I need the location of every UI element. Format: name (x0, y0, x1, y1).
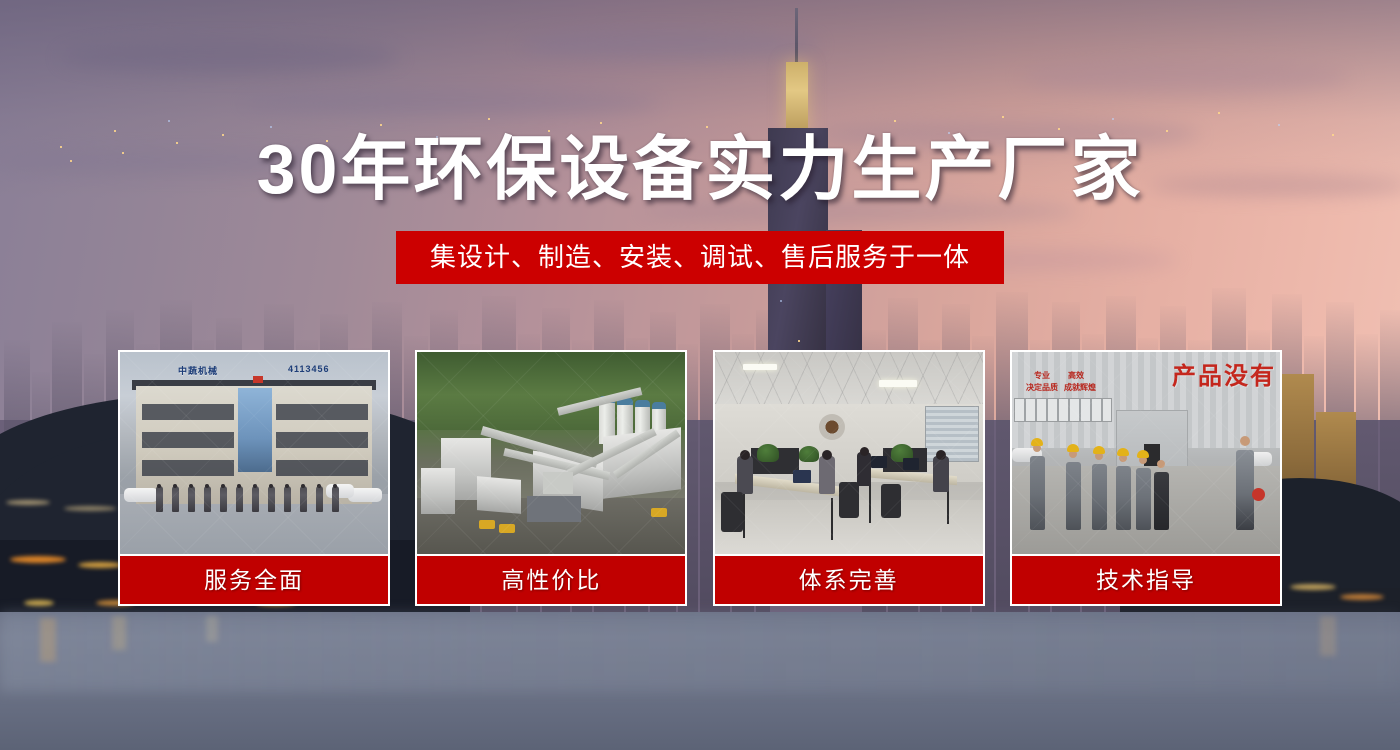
feature-card-3[interactable]: 体系完善 (713, 350, 985, 606)
workers-training-photo: 产品没有 专业 高效 决定品质 成就辉煌 (1012, 352, 1280, 554)
feature-card-4[interactable]: 产品没有 专业 高效 决定品质 成就辉煌 (1010, 350, 1282, 606)
water-reflection (1320, 616, 1336, 656)
subtitle-container: 集设计、制造、安装、调试、售后服务于一体 (0, 231, 1400, 284)
feature-card-2-caption: 高性价比 (417, 554, 685, 604)
water-reflection (112, 616, 126, 650)
factory-slogan-small-4: 成就辉煌 (1064, 382, 1096, 393)
feature-card-3-caption: 体系完善 (715, 554, 983, 604)
factory-slogan-text: 产品没有 (1172, 356, 1276, 391)
page-title: 30年环保设备实力生产厂家 (0, 128, 1400, 210)
office-interior-photo (715, 352, 983, 554)
feature-card-1[interactable]: 中蔬机械 4113456 (118, 350, 390, 606)
feature-card-4-caption: 技术指导 (1012, 554, 1280, 604)
feature-card-1-caption: 服务全面 (120, 554, 388, 604)
subtitle-badge: 集设计、制造、安装、调试、售后服务于一体 (396, 231, 1004, 284)
building-sign-text: 中蔬机械 (178, 364, 218, 377)
factory-slogan-small-1: 专业 (1034, 370, 1050, 381)
promo-banner: 30年环保设备实力生产厂家 集设计、制造、安装、调试、售后服务于一体 中蔬机械 … (0, 0, 1400, 750)
feature-cards: 中蔬机械 4113456 (118, 350, 1282, 606)
feature-card-2[interactable]: 高性价比 (415, 350, 687, 606)
company-office-building-photo: 中蔬机械 4113456 (120, 352, 388, 554)
water-reflection (40, 618, 56, 662)
factory-slogan-small-2: 高效 (1068, 370, 1084, 381)
aerial-production-plant-photo (417, 352, 685, 554)
water-reflection (206, 616, 218, 642)
factory-slogan-small-3: 决定品质 (1026, 382, 1058, 393)
building-phone-text: 4113456 (288, 364, 330, 374)
